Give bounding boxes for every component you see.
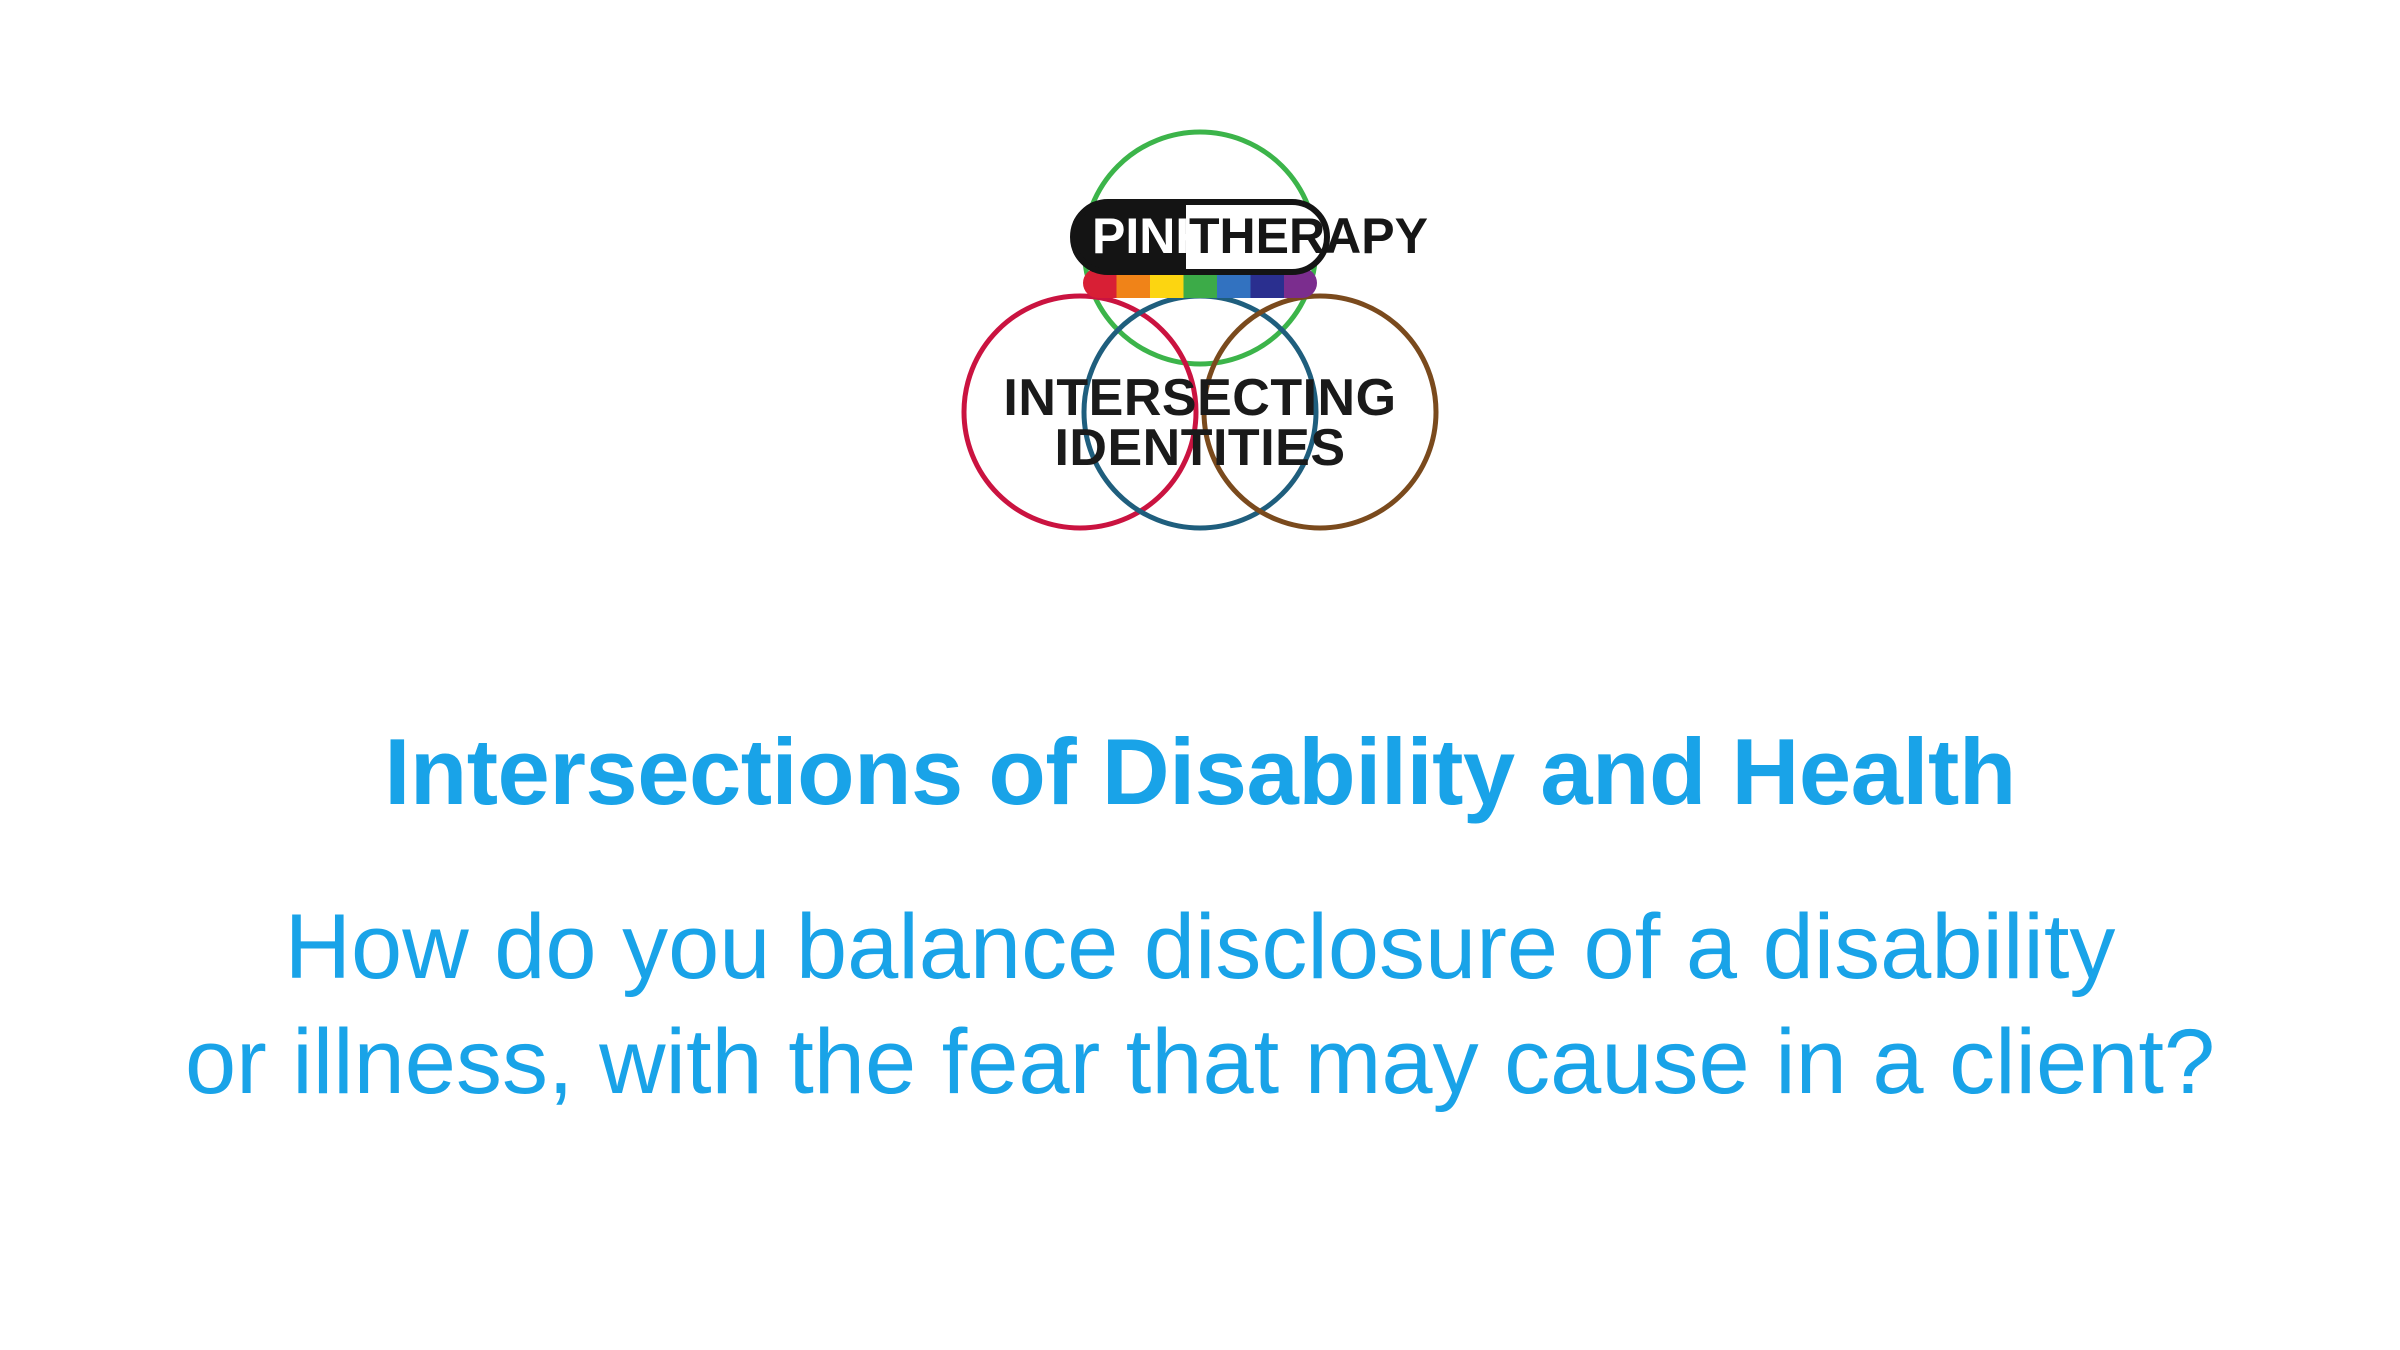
discussion-question: How do you balance disclosure of a disab… — [0, 890, 2400, 1120]
discussion-question-line2: or illness, with the fear that may cause… — [0, 1005, 2400, 1120]
discussion-question-line1: How do you balance disclosure of a disab… — [0, 890, 2400, 1005]
slide-canvas: PINK THERAPY INTERSECTING IDENTITIES Int… — [0, 0, 2400, 1350]
programme-name-line2: IDENTITIES — [1054, 419, 1345, 477]
page-title: Intersections of Disability and Health — [0, 723, 2400, 822]
brand-name-therapy: THERAPY — [1189, 208, 1428, 264]
pink-therapy-intersecting-identities-logo: PINK THERAPY INTERSECTING IDENTITIES — [940, 120, 1460, 550]
